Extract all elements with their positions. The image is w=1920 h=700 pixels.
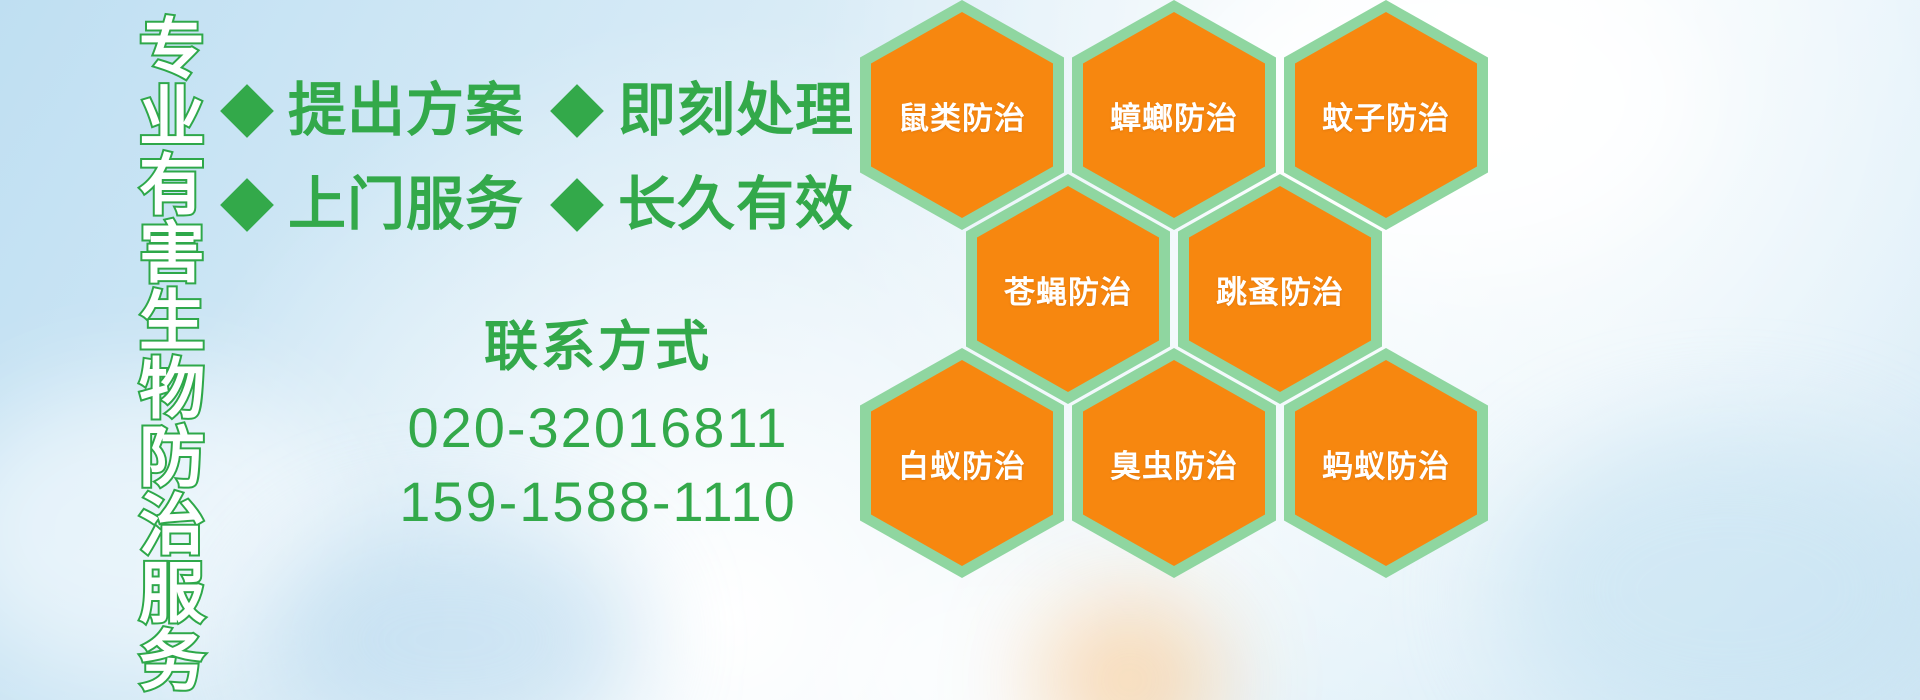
diamond-bullet-icon (550, 178, 604, 232)
service-hex-label: 苍蝇防治 (1004, 267, 1132, 312)
diamond-bullet-icon (220, 84, 274, 138)
slogan-item-label: 提出方案 (288, 82, 524, 140)
service-hex-label: 鼠类防治 (898, 93, 1026, 138)
hex-inner: 臭虫防治 (1083, 360, 1265, 566)
service-hex-label: 臭虫防治 (1110, 441, 1238, 486)
service-hex-label: 蟑螂防治 (1110, 93, 1238, 138)
slogan-item-label: 即刻处理 (618, 82, 854, 140)
phone-number-mobile[interactable]: 159-1588-1110 (318, 465, 878, 539)
diamond-bullet-icon (550, 84, 604, 138)
hex-inner: 苍蝇防治 (977, 186, 1159, 392)
background-blob (260, 520, 640, 700)
service-hex-label: 蚂蚁防治 (1322, 441, 1450, 486)
hex-inner: 跳蚤防治 (1189, 186, 1371, 392)
background-blob (1040, 600, 1220, 700)
diamond-bullet-icon (220, 178, 274, 232)
pest-control-banner: 专业有害生物防治服务 提出方案 即刻处理 上门服务 长久有效 联系方式 020-… (0, 0, 1920, 700)
service-hex-label: 白蚁防治 (898, 441, 1026, 486)
service-honeycomb-grid: 鼠类防治 蟑螂防治 蚊子防治 苍蝇防治 跳蚤防治 白蚁防治 (852, 0, 1452, 562)
slogan-row: 提出方案 即刻处理 (228, 82, 868, 140)
service-hex-label: 跳蚤防治 (1216, 267, 1344, 312)
service-hex-label: 蚊子防治 (1322, 93, 1450, 138)
hex-inner: 蚊子防治 (1295, 12, 1477, 218)
slogan-list: 提出方案 即刻处理 上门服务 长久有效 (228, 82, 868, 270)
slogan-row: 上门服务 长久有效 (228, 176, 868, 234)
hex-inner: 蚂蚁防治 (1295, 360, 1477, 566)
hex-inner: 鼠类防治 (871, 12, 1053, 218)
contact-label: 联系方式 (318, 318, 878, 377)
hex-inner: 蟑螂防治 (1083, 12, 1265, 218)
slogan-item-label: 上门服务 (288, 176, 524, 234)
phone-number-landline[interactable]: 020-32016811 (318, 391, 878, 465)
slogan-item-label: 长久有效 (618, 176, 854, 234)
contact-block: 联系方式 020-32016811 159-1588-1110 (318, 318, 878, 539)
background-blob (820, 560, 1180, 700)
hex-inner: 白蚁防治 (871, 360, 1053, 566)
background-blob (1500, 430, 1920, 700)
vertical-company-title: 专业有害生物防治服务 (104, 14, 200, 694)
